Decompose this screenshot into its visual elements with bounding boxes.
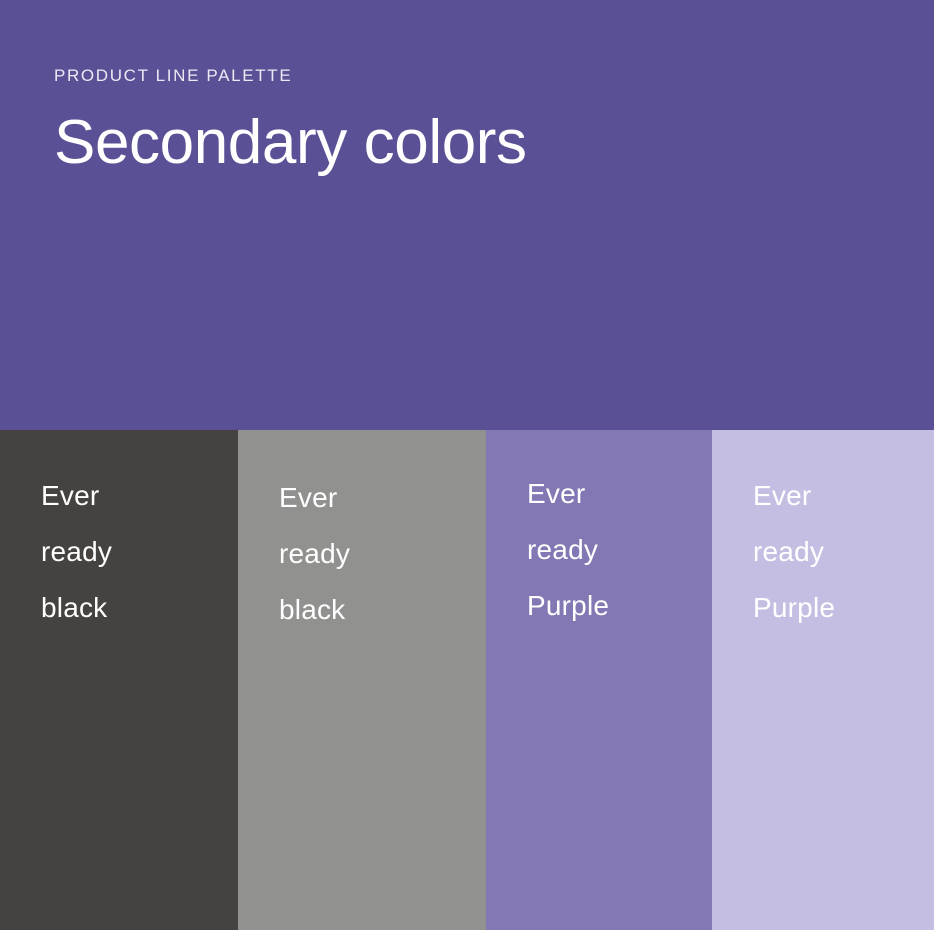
color-swatch-4[interactable]: Ever ready Purple	[712, 430, 934, 934]
swatch-label-line: ready	[279, 526, 486, 582]
color-swatch-2[interactable]: Ever ready black	[238, 430, 486, 934]
header-band: PRODUCT LINE PALETTE Secondary colors	[0, 0, 934, 430]
swatch-label-line: black	[279, 582, 486, 638]
palette-slide: PRODUCT LINE PALETTE Secondary colors Ev…	[0, 0, 934, 934]
swatch-label-line: Ever	[753, 468, 934, 524]
swatch-label-line: Purple	[753, 580, 934, 636]
eyebrow-label: PRODUCT LINE PALETTE	[54, 66, 934, 86]
swatch-strip: Ever ready black Ever ready black Ever r…	[0, 430, 934, 934]
swatch-label-line: Ever	[41, 468, 238, 524]
swatch-label-line: ready	[41, 524, 238, 580]
page-title: Secondary colors	[54, 108, 934, 177]
swatch-label-line: ready	[753, 524, 934, 580]
bottom-rule	[0, 930, 934, 934]
swatch-label-line: Ever	[279, 470, 486, 526]
color-swatch-1[interactable]: Ever ready black	[0, 430, 238, 934]
color-swatch-3[interactable]: Ever ready Purple	[486, 430, 712, 934]
swatch-label-line: Ever	[527, 466, 712, 522]
swatch-label-line: black	[41, 580, 238, 636]
swatch-label-line: Purple	[527, 578, 712, 634]
swatch-label-line: ready	[527, 522, 712, 578]
